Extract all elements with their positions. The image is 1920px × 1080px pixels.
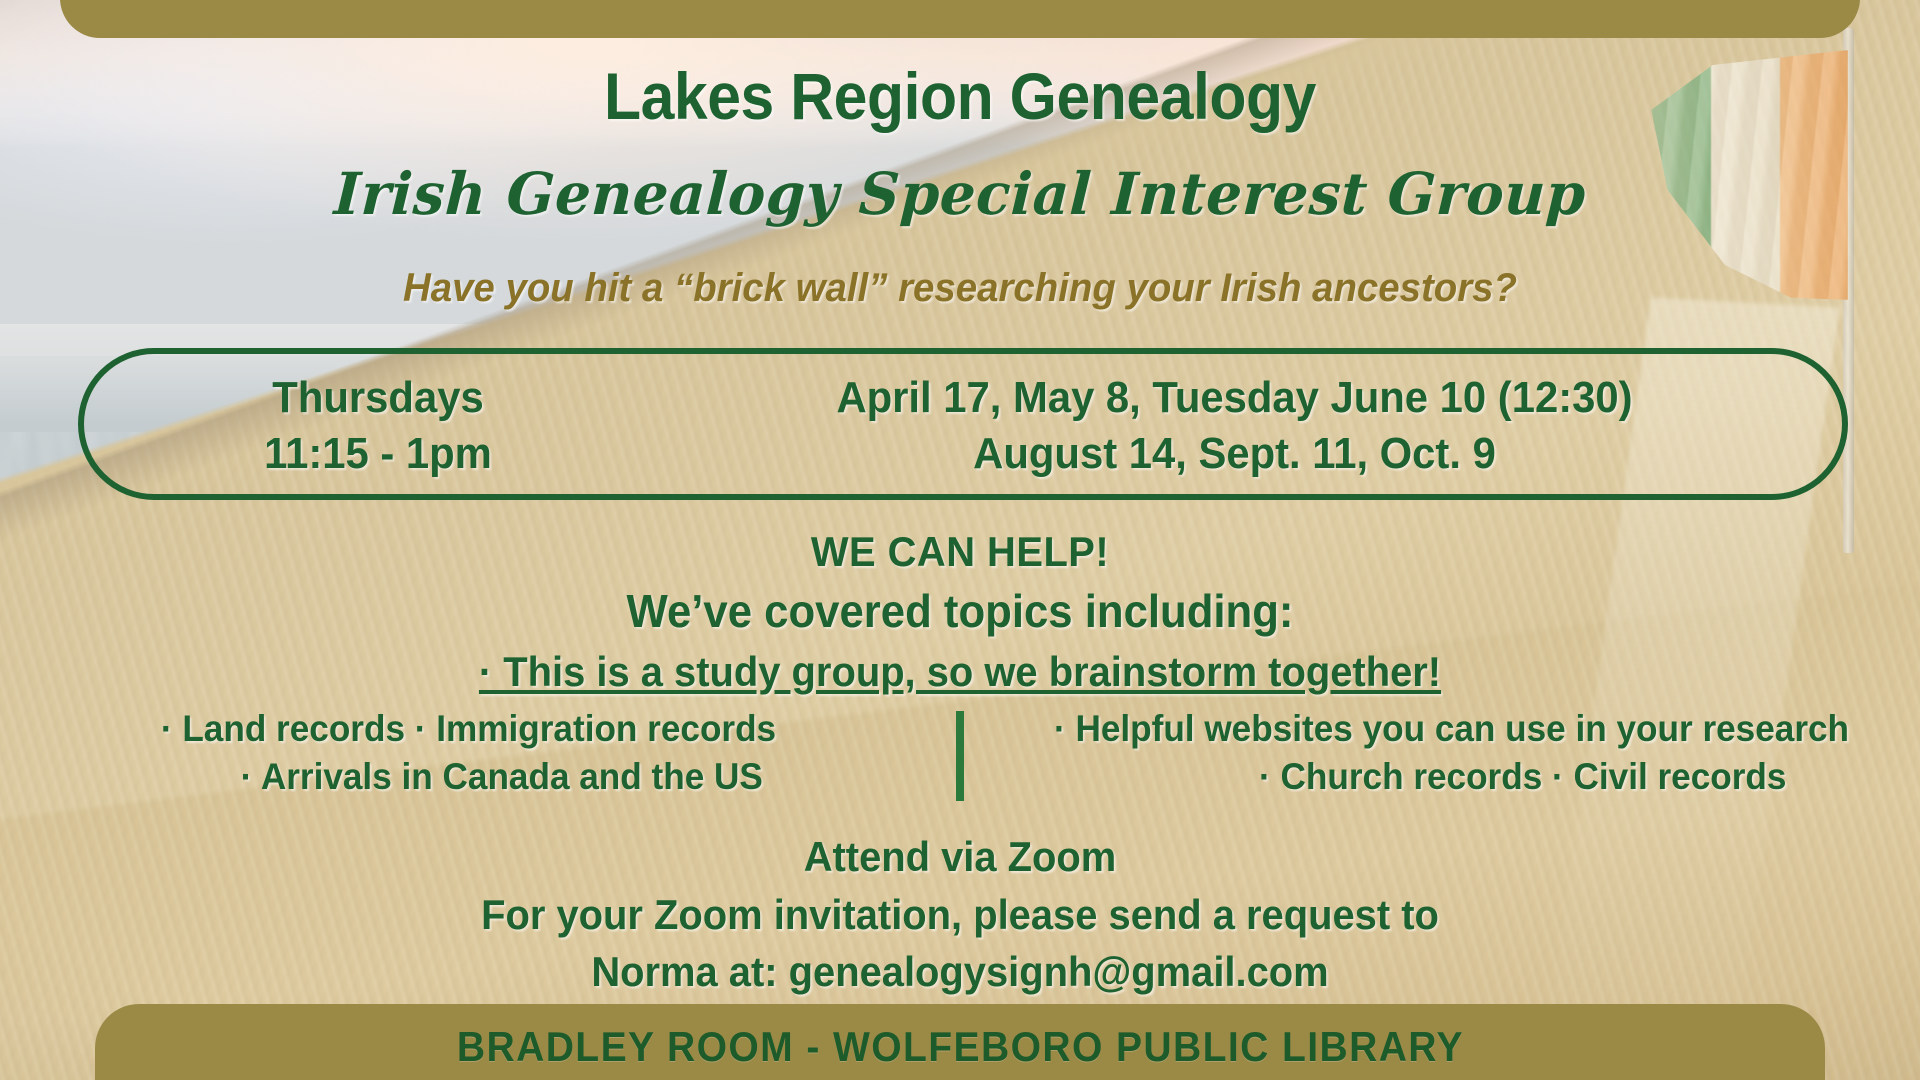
bottom-banner: BRADLEY ROOM - WOLFEBORO PUBLIC LIBRARY bbox=[95, 1004, 1825, 1080]
flyer-poster: Lakes Region Genealogy Irish Genealogy S… bbox=[0, 0, 1920, 1080]
topics-left-column: · Land records · Immigration records · A… bbox=[24, 705, 932, 801]
zoom-attend: Attend via Zoom bbox=[48, 828, 1872, 886]
schedule-time: 11:15 - 1pm bbox=[93, 426, 663, 482]
schedule-box: Thursdays 11:15 - 1pm April 17, May 8, T… bbox=[78, 350, 1848, 502]
poster-subtitle: Irish Genealogy Special Interest Group bbox=[27, 160, 1893, 228]
topics-right-column: · Helpful websites you can use in your r… bbox=[988, 705, 1896, 801]
zoom-contact: Norma at: genealogysignh@gmail.com bbox=[48, 943, 1872, 1001]
schedule-day-time: Thursdays 11:15 - 1pm bbox=[93, 370, 663, 483]
column-divider bbox=[956, 711, 964, 801]
poster-title: Lakes Region Genealogy bbox=[77, 58, 1843, 134]
topic-item: · Arrivals in Canada and the US bbox=[24, 753, 913, 801]
help-heading: WE CAN HELP! bbox=[48, 528, 1872, 576]
schedule-dates: April 17, May 8, Tuesday June 10 (12:30)… bbox=[707, 370, 1819, 483]
topic-item: · Church records · Civil records bbox=[1007, 753, 1896, 801]
zoom-invitation: For your Zoom invitation, please send a … bbox=[48, 886, 1872, 944]
schedule-dates-line-1: April 17, May 8, Tuesday June 10 (12:30) bbox=[707, 370, 1762, 426]
top-banner bbox=[60, 0, 1860, 38]
zoom-info: Attend via Zoom For your Zoom invitation… bbox=[48, 828, 1872, 1001]
schedule-dates-line-2: August 14, Sept. 11, Oct. 9 bbox=[707, 426, 1762, 482]
topic-item: · Land records · Immigration records bbox=[24, 705, 913, 753]
topics-columns: · Land records · Immigration records · A… bbox=[0, 705, 1920, 825]
topic-item: · Helpful websites you can use in your r… bbox=[1007, 705, 1896, 753]
poster-content: Lakes Region Genealogy Irish Genealogy S… bbox=[0, 0, 1920, 1080]
schedule-day: Thursdays bbox=[93, 370, 663, 426]
study-group-note: · This is a study group, so we brainstor… bbox=[48, 648, 1872, 696]
venue-footer: BRADLEY ROOM - WOLFEBORO PUBLIC LIBRARY bbox=[456, 1023, 1463, 1071]
covered-heading: We’ve covered topics including: bbox=[48, 584, 1872, 638]
poster-tagline: Have you hit a “brick wall” researching … bbox=[38, 266, 1881, 311]
